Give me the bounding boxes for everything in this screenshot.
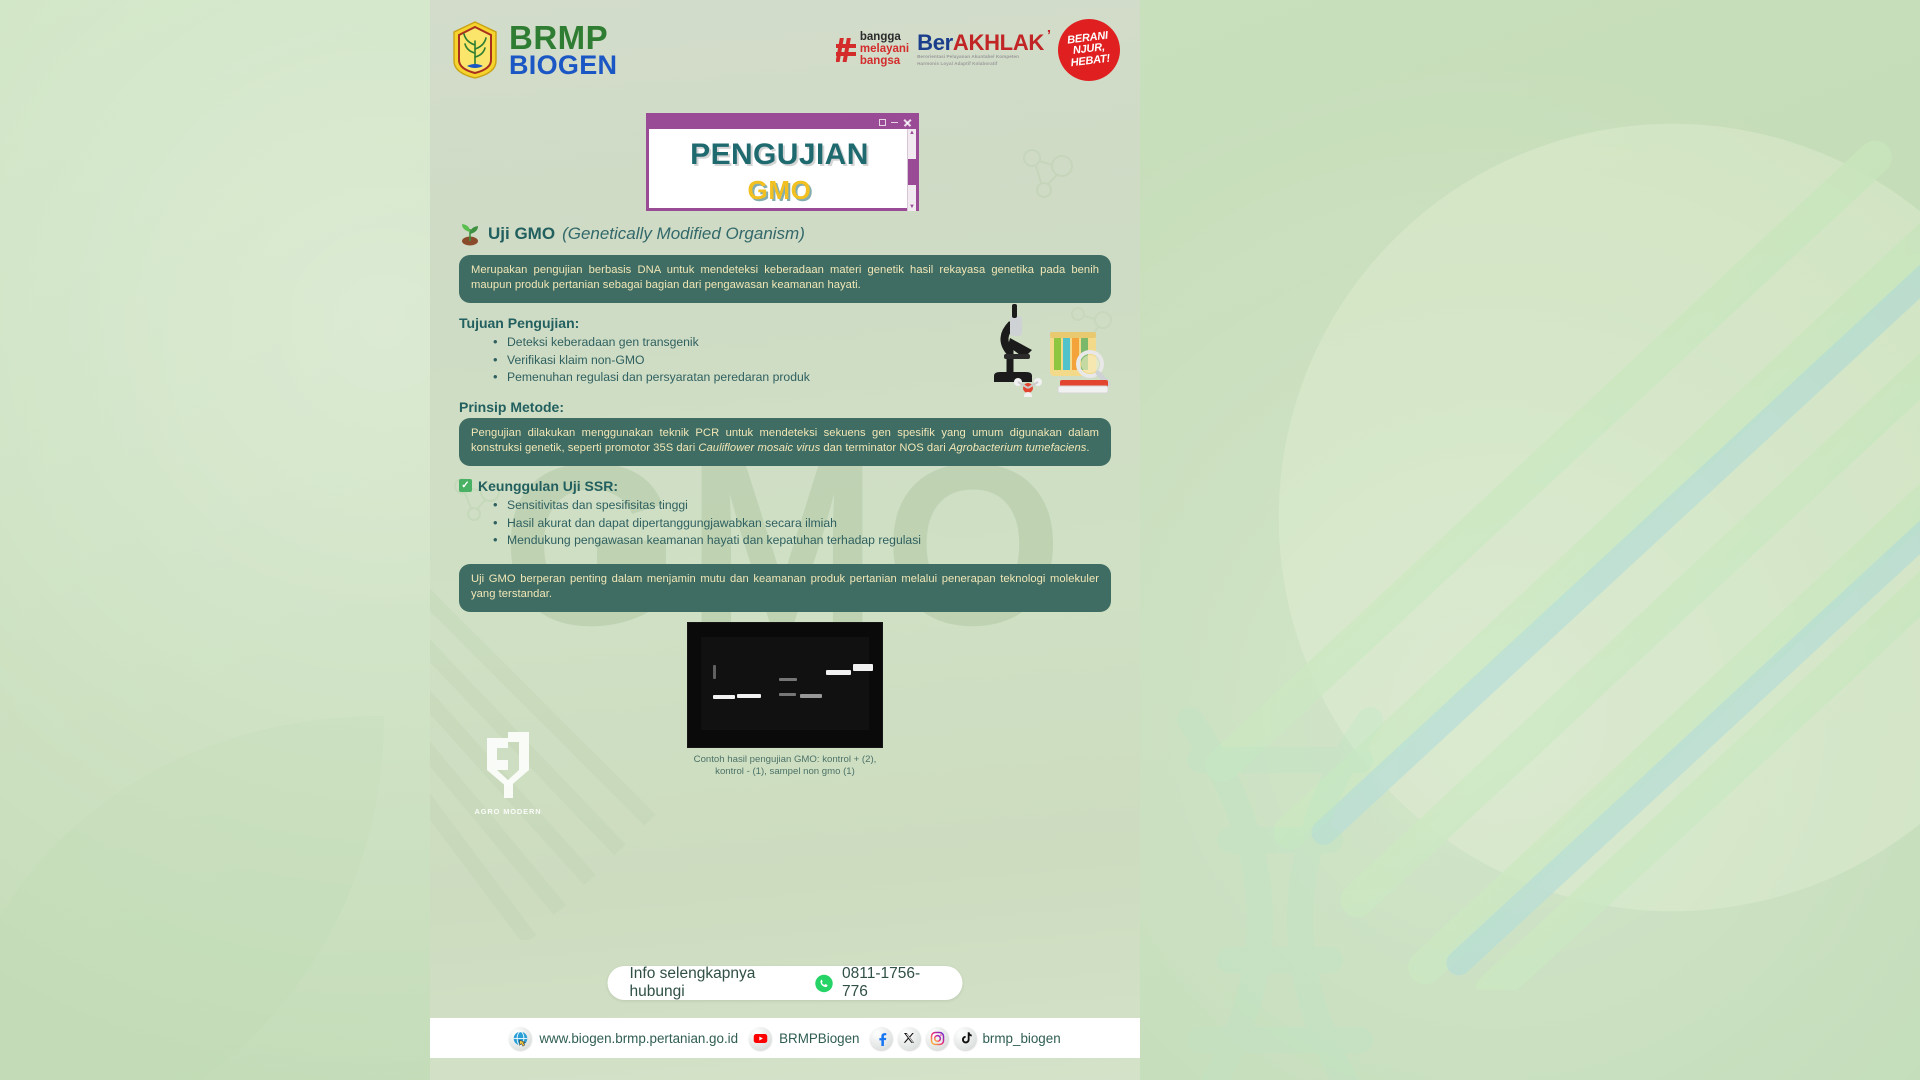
gel-ladder xyxy=(713,665,716,679)
keunggulan-list: Sensitivitas dan spesifisitas tinggi Has… xyxy=(493,497,1111,550)
microscope-lab-icon xyxy=(986,302,1114,397)
brand-name-primary: BRMP xyxy=(509,22,617,53)
dna-helix-decoration-2-icon xyxy=(1100,560,1800,1080)
gel-band xyxy=(779,678,797,681)
bangga-text-lines: bangga melayani bangsa xyxy=(860,32,909,68)
footer-bar: www.biogen.brmp.pertanian.go.id BRMPBiog… xyxy=(430,1018,1140,1058)
hashtag-icon xyxy=(836,37,856,63)
maximize-icon[interactable] xyxy=(879,119,886,126)
window-body: PENGUJIAN GMO ▲ ▼ xyxy=(649,129,916,211)
whatsapp-icon[interactable] xyxy=(814,974,833,993)
check-mark-icon: ✓ xyxy=(459,479,472,492)
prinsip-italic-1: Cauliflower mosaic virus xyxy=(698,442,820,454)
window-scrollbar[interactable]: ▲ ▼ xyxy=(907,129,916,211)
seedling-icon xyxy=(459,222,481,246)
contact-pill[interactable]: Info selengkapnya hubungi 0811-1756-776 xyxy=(608,966,963,1000)
bangga-melayani-bangsa-logo: bangga melayani bangsa xyxy=(836,32,909,68)
section-heading: Uji GMO (Genetically Modified Organism) xyxy=(459,222,1111,246)
footer-website-label: www.biogen.brmp.pertanian.go.id xyxy=(539,1031,738,1046)
agro-modern-label: AGRO MODERN xyxy=(472,807,544,816)
poster-title-line2: GMO xyxy=(659,175,900,206)
poster-content: Uji GMO (Genetically Modified Organism) … xyxy=(430,222,1140,612)
berakhlak-prefix: Ber xyxy=(917,30,953,55)
footer-youtube-label: BRMPBiogen xyxy=(779,1031,859,1046)
list-item: Mendukung pengawasan keamanan hayati dan… xyxy=(493,532,1111,550)
brand-lockup: BRMP BIOGEN xyxy=(450,21,617,79)
berani-badge: BERANI NJUR, HEBAT! xyxy=(1054,15,1123,84)
contact-phone-number[interactable]: 0811-1756-776 xyxy=(842,965,941,1001)
facebook-icon[interactable] xyxy=(870,1027,893,1050)
agro-modern-logo: AGRO MODERN xyxy=(472,730,544,816)
instagram-icon[interactable] xyxy=(926,1027,949,1050)
poster-title-line1: PENGUJIAN xyxy=(659,138,900,172)
gel-band xyxy=(826,670,851,675)
footer-website[interactable]: www.biogen.brmp.pertanian.go.id xyxy=(509,1027,738,1050)
gel-band xyxy=(737,694,761,698)
berakhlak-subtitle-2: Harmonis Loyal Adaptif Kolaboratif xyxy=(917,61,1044,68)
prinsip-text-2: dan terminator NOS dari xyxy=(820,442,949,454)
section-heading-sub: (Genetically Modified Organism) xyxy=(562,224,805,244)
berani-line-3: HEBAT! xyxy=(1070,53,1111,69)
berakhlak-suffix: AKHLAK xyxy=(953,30,1044,55)
list-item: Hasil akurat dan dapat dipertanggungjawa… xyxy=(493,515,1111,533)
scrollbar-thumb[interactable] xyxy=(908,159,917,185)
bangga-line-3: bangsa xyxy=(860,56,909,68)
prinsip-text-3: . xyxy=(1086,442,1089,454)
berakhlak-tick-icon: ’ xyxy=(1047,27,1051,44)
rice-plant-seal-icon xyxy=(450,21,500,79)
government-logos: bangga melayani bangsa BerAKHLAK ’ Beror… xyxy=(836,19,1120,81)
contact-prompt: Info selengkapnya hubungi xyxy=(630,965,806,1001)
closing-box: Uji GMO berperan penting dalam menjamin … xyxy=(459,564,1111,612)
molecule-decoration-icon xyxy=(1014,140,1084,210)
prinsip-title: Prinsip Metode: xyxy=(459,399,1111,415)
berakhlak-logo: BerAKHLAK ’ Berorientasi Pelayanan Akunt… xyxy=(917,32,1050,68)
close-icon[interactable] xyxy=(903,119,911,127)
footer-social-handle: brmp_biogen xyxy=(982,1031,1060,1046)
leaf-decoration-icon xyxy=(0,660,440,1080)
tiktok-icon[interactable] xyxy=(954,1027,977,1050)
title-window: PENGUJIAN GMO ▲ ▼ xyxy=(646,113,919,211)
list-item: Sensitivitas dan spesifisitas tinggi xyxy=(493,497,1111,515)
scroll-up-arrow-icon[interactable]: ▲ xyxy=(909,129,915,137)
brand-text: BRMP BIOGEN xyxy=(509,22,617,79)
x-twitter-icon[interactable] xyxy=(898,1027,921,1050)
gel-band xyxy=(779,693,796,696)
footer-youtube[interactable]: BRMPBiogen xyxy=(749,1027,859,1050)
section-heading-main: Uji GMO xyxy=(488,224,555,244)
scroll-down-arrow-icon[interactable]: ▼ xyxy=(909,203,915,211)
berakhlak-wordmark: BerAKHLAK xyxy=(917,32,1044,54)
berakhlak-subtitle-1: Berorientasi Pelayanan Akuntabel Kompete… xyxy=(917,54,1044,61)
agro-modern-logo-icon xyxy=(479,730,537,800)
keunggulan-title: Keunggulan Uji SSR: xyxy=(478,478,618,494)
gel-band xyxy=(853,664,873,671)
window-title-bar xyxy=(649,116,916,129)
globe-icon xyxy=(509,1027,532,1050)
gel-band xyxy=(713,695,735,699)
youtube-icon xyxy=(749,1027,772,1050)
intro-box: Merupakan pengujian berbasis DNA untuk m… xyxy=(459,255,1111,303)
brand-name-secondary: BIOGEN xyxy=(509,53,617,79)
minimize-icon[interactable] xyxy=(891,122,898,123)
gel-band xyxy=(800,694,822,698)
prinsip-italic-2: Agrobacterium tumefaciens xyxy=(949,442,1086,454)
poster-header: BRMP BIOGEN bangga melayani bangsa xyxy=(430,0,1140,100)
keunggulan-title-row: ✓ Keunggulan Uji SSR: xyxy=(459,478,1111,494)
gel-lane-area xyxy=(701,637,869,730)
poster-canvas: GMO xyxy=(430,0,1140,1080)
gel-electrophoresis-image xyxy=(687,622,883,748)
footer-socials: brmp_biogen xyxy=(870,1027,1060,1050)
prinsip-box: Pengujian dilakukan menggunakan teknik P… xyxy=(459,418,1111,466)
